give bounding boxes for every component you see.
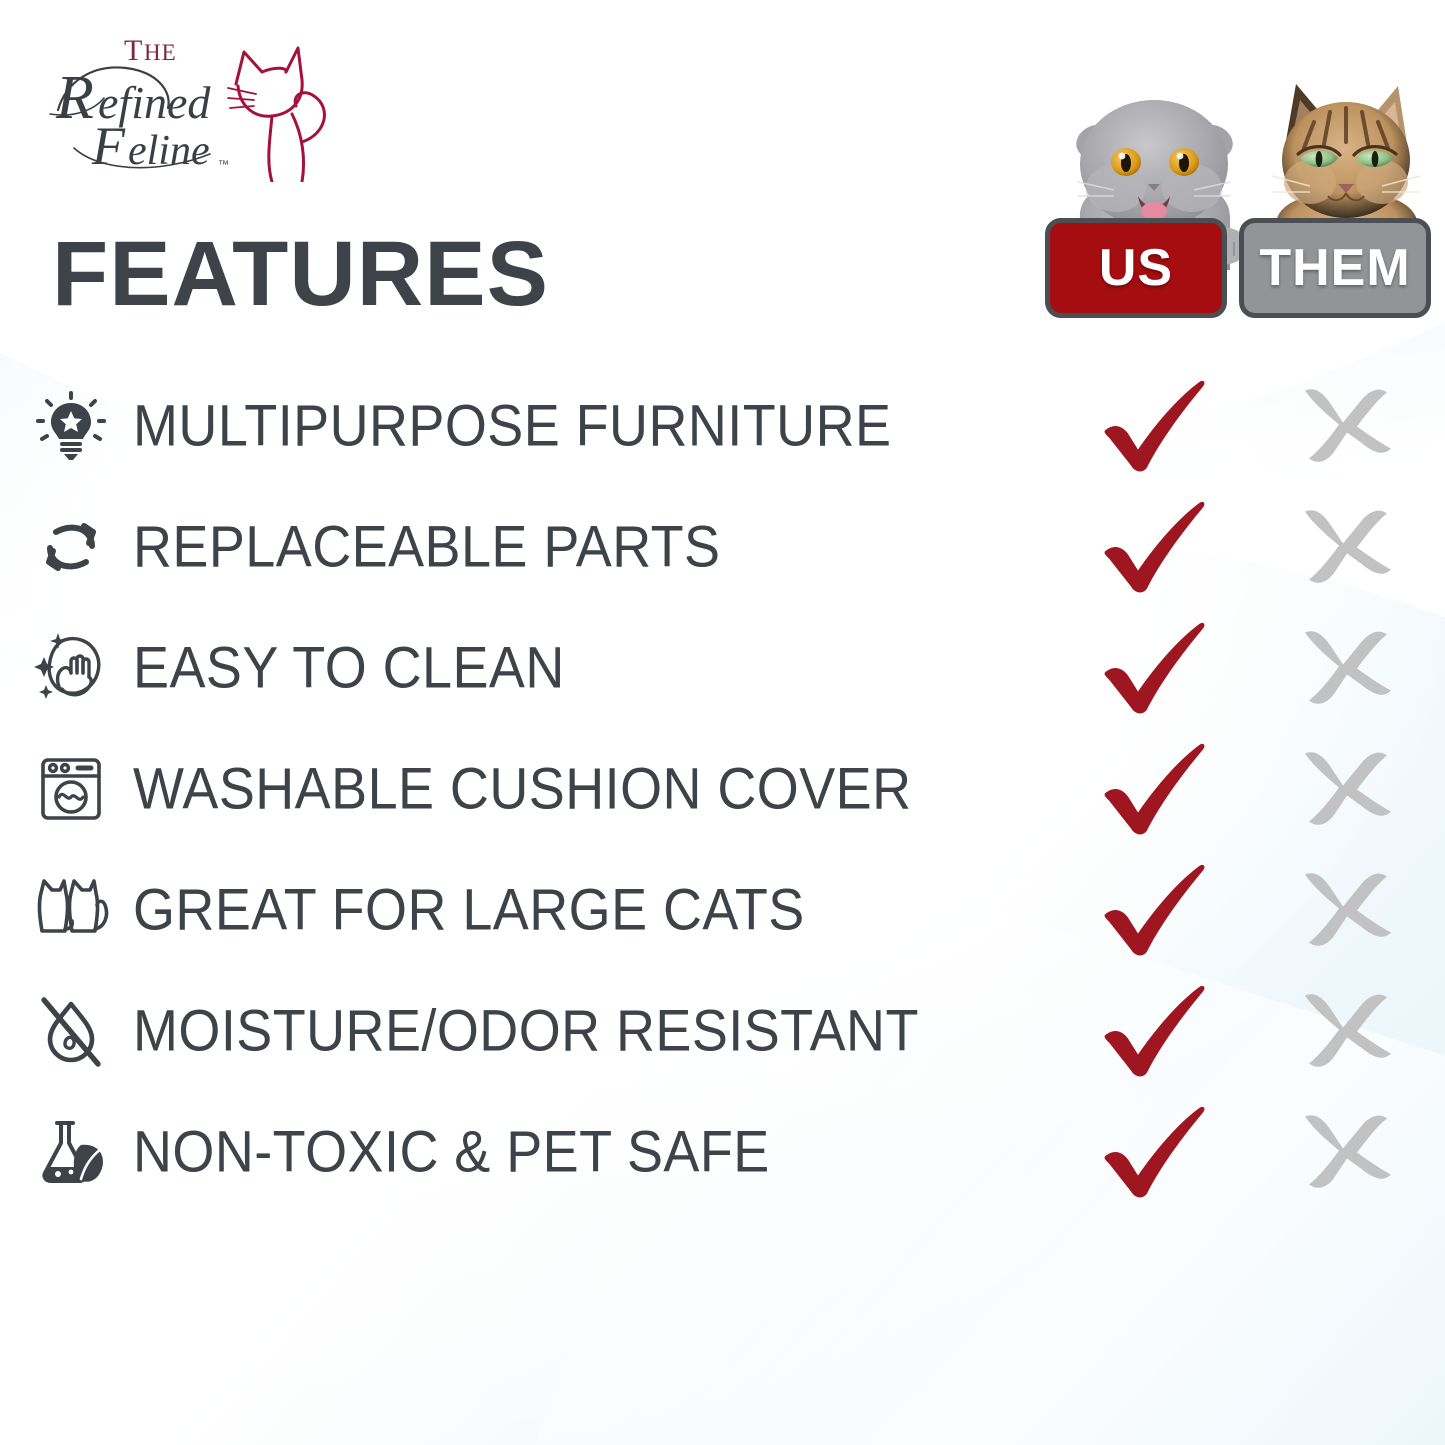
svg-text:HE: HE (144, 40, 177, 65)
them-cross-mark (1292, 746, 1397, 831)
us-check-mark (1098, 378, 1213, 473)
feature-label: EASY TO CLEAN (133, 634, 565, 701)
infographic-canvas: T HE R efined F eline ™ (0, 0, 1445, 1445)
feature-row: GREAT FOR LARGE CATS (0, 849, 1445, 970)
feature-label: NON-TOXIC & PET SAFE (133, 1118, 770, 1185)
us-check-mark (1098, 499, 1213, 594)
them-cross-mark (1292, 504, 1397, 589)
features-list: MULTIPURPOSE FURNITURE (0, 365, 1445, 1212)
feature-label: REPLACEABLE PARTS (133, 513, 720, 580)
two-cats-icon (30, 869, 112, 951)
us-check-mark (1098, 620, 1213, 715)
them-cross-mark (1292, 383, 1397, 468)
feature-row: MULTIPURPOSE FURNITURE (0, 365, 1445, 486)
them-cross-mark (1292, 988, 1397, 1073)
them-badge[interactable]: THEM (1239, 218, 1431, 318)
feature-label: GREAT FOR LARGE CATS (133, 876, 805, 943)
feature-row: REPLACEABLE PARTS (0, 486, 1445, 607)
recycle-arrows-icon (30, 506, 112, 588)
feature-row: EASY TO CLEAN (0, 607, 1445, 728)
feature-label: WASHABLE CUSHION COVER (133, 755, 912, 822)
cat-silhouette-icon (228, 48, 324, 182)
feature-row: NON-TOXIC & PET SAFE (0, 1091, 1445, 1212)
us-check-mark (1098, 983, 1213, 1078)
comparison-badges: US THEM (1045, 218, 1445, 330)
flask-leaf-icon (30, 1111, 112, 1193)
feature-row: WASHABLE CUSHION COVER (0, 728, 1445, 849)
lightbulb-star-icon (30, 385, 112, 467)
no-water-droplet-icon (30, 990, 112, 1072)
wiping-hand-sparkle-icon (30, 627, 112, 709)
logo-the-text: T (124, 34, 143, 67)
us-badge[interactable]: US (1045, 218, 1227, 318)
feature-row: MOISTURE/ODOR RESISTANT (0, 970, 1445, 1091)
us-check-mark (1098, 741, 1213, 836)
logo-tm-mark: ™ (218, 159, 229, 171)
them-cross-mark (1292, 1109, 1397, 1194)
page-title: FEATURES (52, 228, 549, 320)
brand-logo: T HE R efined F eline ™ (40, 22, 340, 182)
us-check-mark (1098, 1104, 1213, 1199)
them-cross-mark (1292, 625, 1397, 710)
us-check-mark (1098, 862, 1213, 957)
feature-label: MULTIPURPOSE FURNITURE (133, 392, 891, 459)
them-cross-mark (1292, 867, 1397, 952)
feature-label: MOISTURE/ODOR RESISTANT (133, 997, 919, 1064)
logo-refined-text: R (55, 64, 94, 132)
washing-machine-icon (30, 748, 112, 830)
